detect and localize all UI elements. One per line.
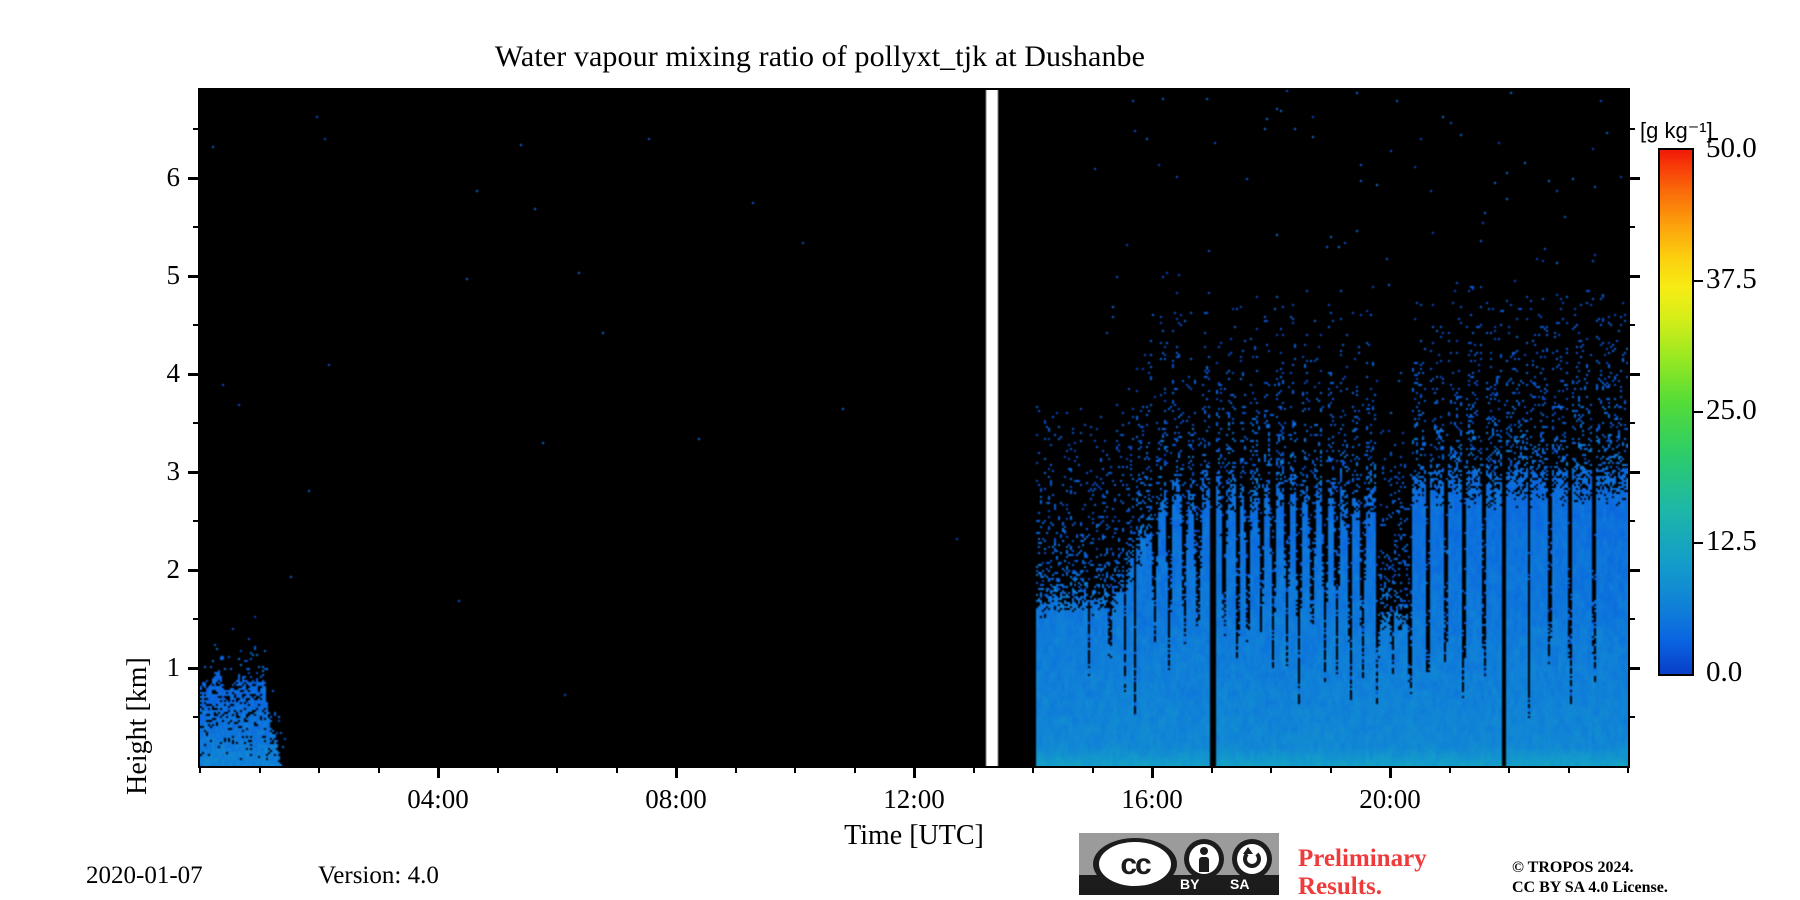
colorbar-tick-mark-3 — [1694, 542, 1703, 544]
preliminary-line-2: Results. — [1298, 873, 1427, 900]
quicklook-figure: Water vapour mixing ratio of pollyxt_tjk… — [0, 0, 1800, 900]
x-tick-label-3: 16:00 — [1062, 786, 1242, 813]
preliminary-line-1: Preliminary — [1298, 845, 1427, 873]
chart-title: Water vapour mixing ratio of pollyxt_tjk… — [0, 40, 1640, 74]
plot-area[interactable] — [198, 88, 1630, 768]
colorbar-tick-label-3: 12.5 — [1706, 527, 1757, 556]
footer-date: 2020-01-07 — [86, 862, 203, 890]
colorbar-unit-label: [g kg⁻¹] — [1640, 118, 1713, 144]
colorbar-tick-label-2: 25.0 — [1706, 396, 1757, 425]
colorbar-tick-label-4: 0.0 — [1706, 658, 1742, 687]
y-axis-label-wrap: Height [km] — [60, 300, 100, 500]
copyright-line-1: © TROPOS 2024. — [1512, 858, 1668, 878]
colorbar[interactable] — [1658, 148, 1694, 676]
heatmap-canvas[interactable] — [200, 90, 1628, 766]
colorbar-tick-label-0: 50.0 — [1706, 134, 1757, 163]
y-tick-label-2: 3 — [120, 458, 180, 485]
cc-by-head — [1200, 847, 1208, 855]
footer-version: Version: 4.0 — [318, 862, 439, 890]
cc-by-body — [1199, 857, 1209, 872]
cc-letters: cc — [1097, 843, 1173, 887]
x-tick-label-4: 20:00 — [1300, 786, 1480, 813]
preliminary-results-notice: Preliminary Results. — [1298, 845, 1427, 900]
creative-commons-badge[interactable]: cc BY SA — [1079, 833, 1279, 895]
x-tick-label-2: 12:00 — [824, 786, 1004, 813]
y-tick-label-5: 6 — [120, 164, 180, 191]
colorbar-tick-mark-1 — [1694, 280, 1703, 282]
copyright-notice: © TROPOS 2024. CC BY SA 4.0 License. — [1512, 858, 1668, 898]
x-tick-label-1: 08:00 — [586, 786, 766, 813]
y-tick-label-3: 4 — [120, 360, 180, 387]
colorbar-canvas — [1660, 150, 1692, 674]
y-axis-label: Height [km] — [122, 586, 154, 866]
cc-by-label: BY — [1180, 876, 1199, 892]
cc-sa-label: SA — [1230, 876, 1249, 892]
x-tick-label-0: 04:00 — [348, 786, 528, 813]
cc-sa-arrow-head — [1243, 847, 1253, 854]
y-tick-label-4: 5 — [120, 262, 180, 289]
y-tick-label-1: 2 — [120, 556, 180, 583]
colorbar-tick-mark-2 — [1694, 411, 1703, 413]
copyright-line-2: CC BY SA 4.0 License. — [1512, 878, 1668, 898]
colorbar-tick-label-1: 37.5 — [1706, 265, 1757, 294]
